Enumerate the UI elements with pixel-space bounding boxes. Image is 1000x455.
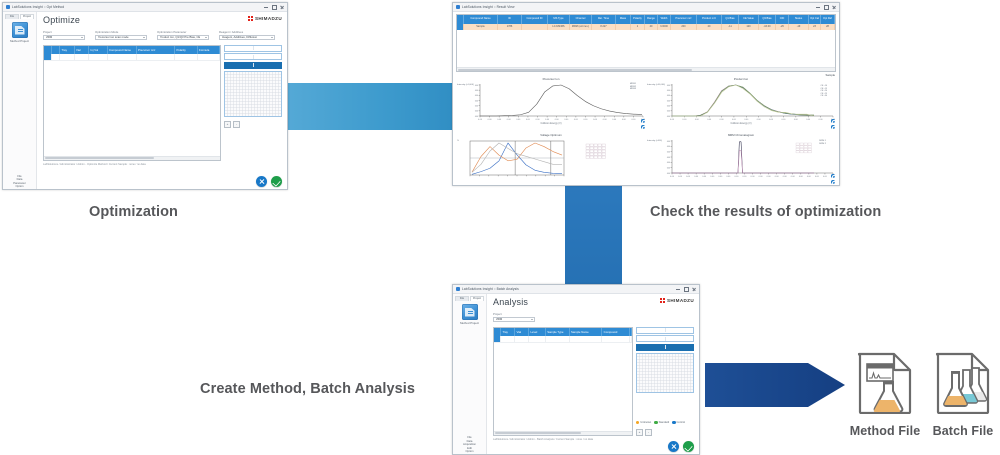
svg-text:0.00: 0.00 bbox=[775, 176, 780, 178]
analysis-side-panel[interactable]: Unknown Standard Control bbox=[636, 327, 694, 436]
field-project[interactable]: Project MRM bbox=[493, 312, 535, 322]
plate-zoom-in-button[interactable]: + bbox=[224, 121, 231, 128]
caption-check-results: Check the results of optimization bbox=[650, 204, 881, 220]
cell-inj-vol bbox=[89, 54, 108, 60]
titlebar-analysis: LabSolutions Insight :: Batch Analysis bbox=[453, 285, 699, 294]
col-inj-vol: Inj Vol bbox=[89, 46, 108, 54]
batch-file-output: Batch File bbox=[926, 352, 1000, 438]
svg-text:000: 000 bbox=[475, 116, 478, 118]
col-level: Level bbox=[529, 328, 546, 336]
svg-text:000: 000 bbox=[475, 95, 478, 97]
svg-text:000: 000 bbox=[475, 105, 478, 107]
legend-unknown: Unknown bbox=[636, 421, 651, 424]
legend-swatch-control bbox=[672, 421, 675, 424]
svg-text:0.00: 0.00 bbox=[670, 176, 675, 178]
col-precursor: Precursor m/z bbox=[137, 46, 176, 54]
svg-text:0.00: 0.00 bbox=[710, 176, 715, 178]
svg-text:0.00: 0.00 bbox=[584, 119, 589, 121]
optimize-fields[interactable]: Project MRM Optimization Mode Precursor … bbox=[43, 30, 282, 40]
cell-compound bbox=[602, 336, 629, 342]
svg-text:0.00: 0.00 bbox=[603, 119, 608, 121]
plate-row-2[interactable] bbox=[636, 335, 694, 342]
minimize-icon[interactable] bbox=[676, 287, 680, 291]
svg-text:0.00: 0.00 bbox=[751, 176, 756, 178]
chart-plot bbox=[456, 138, 646, 182]
svg-text:0.00: 0.00 bbox=[799, 176, 804, 178]
cell-sample-type bbox=[546, 336, 570, 342]
legend-standard: Standard bbox=[654, 421, 669, 424]
plate-row-1[interactable] bbox=[636, 327, 694, 334]
legend-item: MRM3 bbox=[630, 88, 636, 91]
batch-file-label: Batch File bbox=[926, 424, 1000, 438]
page-title: Optimize bbox=[43, 16, 80, 25]
results-header-row: Compound Name ID Compound ID MS Type Cha… bbox=[457, 15, 835, 24]
close-icon[interactable] bbox=[692, 287, 696, 291]
window-optimize[interactable]: LabSolutions Insight :: Opt Method File … bbox=[2, 2, 288, 190]
method-project-icon[interactable] bbox=[462, 304, 478, 320]
svg-text:0.00: 0.00 bbox=[707, 119, 712, 121]
col-index bbox=[52, 46, 61, 54]
legend-label: Control bbox=[677, 421, 685, 424]
method-project-icon[interactable] bbox=[12, 22, 28, 38]
legend-swatch-standard bbox=[654, 421, 657, 424]
svg-text:0.00: 0.00 bbox=[732, 119, 737, 121]
field-optimization-mode[interactable]: Optimization Mode Precursor ion scan mod… bbox=[95, 30, 147, 40]
legend-control: Control bbox=[672, 421, 685, 424]
field-optimization-mode-combo[interactable]: Precursor ion scan mode bbox=[95, 35, 147, 40]
shimadzu-logo: SHIMADZU bbox=[248, 16, 282, 21]
plate-row-selected[interactable] bbox=[224, 62, 282, 69]
titlebar-optimize: LabSolutions Insight :: Opt Method bbox=[3, 3, 287, 12]
optimize-side-panel[interactable]: + - bbox=[224, 45, 282, 161]
svg-text:0.00: 0.00 bbox=[507, 119, 512, 121]
col-polarity: Polarity bbox=[175, 46, 198, 54]
shimadzu-mark-icon bbox=[660, 298, 665, 303]
chart-nav-up-icon[interactable] bbox=[831, 174, 835, 178]
chart-plot: 0.000.000.000.000.000.000.000.000.000.00… bbox=[646, 138, 836, 180]
svg-text:0.00: 0.00 bbox=[478, 119, 483, 121]
svg-text:0.00: 0.00 bbox=[695, 119, 700, 121]
svg-text:0.00: 0.00 bbox=[678, 176, 683, 178]
legend-item: CE -30 bbox=[821, 95, 827, 98]
svg-text:000: 000 bbox=[667, 95, 670, 97]
rail-tabs[interactable]: File Project bbox=[3, 14, 36, 19]
page-title: Analysis bbox=[493, 298, 528, 307]
chart-nav-buttons[interactable] bbox=[641, 119, 645, 129]
method-file-output: Method File bbox=[846, 352, 924, 438]
col-compound: Compound bbox=[602, 328, 629, 336]
maximize-icon[interactable] bbox=[824, 5, 828, 9]
results-empty-area bbox=[457, 30, 835, 68]
cell-polarity bbox=[175, 54, 198, 60]
svg-text:0.00: 0.00 bbox=[794, 119, 799, 121]
window-analysis[interactable]: LabSolutions Insight :: Batch Analysis F… bbox=[452, 284, 700, 455]
svg-text:0.00: 0.00 bbox=[744, 119, 749, 121]
rail-bottom-menu[interactable]: File Data Parameter Option bbox=[3, 175, 36, 188]
field-reagent-value: Reagent, Additives, Diffusion bbox=[222, 35, 258, 39]
chart-nav-down-icon[interactable] bbox=[831, 180, 835, 184]
svg-text:0.00: 0.00 bbox=[682, 119, 687, 121]
status-text: LabSolutions / Administrator / Admin - B… bbox=[493, 438, 694, 441]
cell-compound-name bbox=[108, 54, 137, 60]
field-project[interactable]: Project MRM bbox=[43, 30, 85, 40]
grid-empty-area bbox=[44, 61, 220, 156]
plate-controls[interactable]: + - bbox=[224, 121, 282, 128]
app-icon bbox=[456, 287, 460, 291]
chart-plot: 0.000.000.000.000.000.000.000.000.000.00… bbox=[646, 82, 836, 122]
chart-ylabel: Intensity (x10,000) bbox=[647, 84, 665, 86]
cell-index bbox=[52, 54, 61, 60]
workflow-diagram: LabSolutions Insight :: Opt Method File … bbox=[0, 0, 1000, 455]
window-controls[interactable] bbox=[676, 287, 696, 291]
rail-icon-caption: Method Project bbox=[10, 40, 29, 44]
arrow-results-to-analysis bbox=[565, 182, 622, 287]
mrm-chromatogram-chart: MRM Chromatogram Intensity (x100) 0.000.… bbox=[646, 133, 836, 186]
chevron-down-icon bbox=[143, 37, 145, 38]
field-project-value: MRM bbox=[46, 35, 53, 39]
analysis-actions[interactable] bbox=[668, 441, 694, 452]
chart-title: MRM Chromatogram bbox=[646, 133, 836, 137]
col-ce-value: CE Value bbox=[739, 15, 759, 24]
col-sample-type: Sample Type bbox=[546, 328, 570, 336]
maximize-icon[interactable] bbox=[684, 287, 688, 291]
col-channel: Channel bbox=[570, 15, 592, 24]
svg-text:000: 000 bbox=[667, 151, 670, 153]
minimize-icon[interactable] bbox=[264, 5, 268, 9]
chart-nav-up-icon[interactable] bbox=[641, 119, 645, 123]
field-reagent-additives[interactable]: Reagent / Additives Reagent, Additives, … bbox=[219, 30, 275, 40]
optimize-actions[interactable] bbox=[256, 176, 282, 187]
svg-text:0.00: 0.00 bbox=[622, 119, 627, 121]
field-project-combo[interactable]: MRM bbox=[43, 35, 85, 40]
field-reagent-label: Reagent / Additives bbox=[219, 30, 275, 34]
rail-tab-project[interactable]: Project bbox=[470, 296, 484, 301]
sample-type-legend: Unknown Standard Control bbox=[636, 421, 694, 425]
svg-text:0.00: 0.00 bbox=[545, 119, 550, 121]
svg-text:0.00: 0.00 bbox=[807, 176, 812, 178]
svg-text:0.00: 0.00 bbox=[783, 176, 788, 178]
field-project-label: Project bbox=[493, 312, 535, 316]
col-select bbox=[44, 46, 52, 54]
field-project-label: Project bbox=[43, 30, 85, 34]
svg-text:0.00: 0.00 bbox=[718, 176, 723, 178]
svg-text:0.00: 0.00 bbox=[574, 119, 579, 121]
legend-label: Unknown bbox=[640, 421, 651, 424]
field-optimization-mode-value: Precursor ion scan mode bbox=[98, 35, 129, 39]
chart-nav-buttons[interactable] bbox=[831, 174, 835, 184]
chevron-down-icon bbox=[81, 37, 83, 38]
svg-text:0.00: 0.00 bbox=[759, 176, 764, 178]
batch-file-icon bbox=[935, 352, 991, 414]
col-compound-id: Compound ID bbox=[522, 15, 548, 24]
col-status: Status bbox=[789, 15, 809, 24]
col-mass: Mass bbox=[616, 15, 631, 24]
svg-text:0.00: 0.00 bbox=[815, 176, 820, 178]
grid-horizontal-scrollbar[interactable] bbox=[44, 156, 220, 160]
left-rail-optimize[interactable]: File Project Method Project File Data Pa… bbox=[3, 12, 37, 190]
legend-item: MRM 2 bbox=[819, 143, 826, 146]
minimize-icon[interactable] bbox=[816, 5, 820, 9]
chart-ylabel: % bbox=[457, 140, 459, 142]
window-controls[interactable] bbox=[816, 5, 836, 9]
svg-text:0.00: 0.00 bbox=[526, 119, 531, 121]
col-tray: Tray bbox=[501, 328, 515, 336]
field-optimization-parameter-label: Optimization Parameter bbox=[157, 30, 209, 34]
grid-horizontal-scrollbar[interactable] bbox=[494, 431, 632, 435]
col-formula: Formula bbox=[198, 46, 221, 54]
svg-text:0.00: 0.00 bbox=[720, 119, 725, 121]
rail-menu-option[interactable]: Option bbox=[466, 450, 474, 453]
col-polarity: Polarity bbox=[631, 15, 645, 24]
field-optimization-parameter[interactable]: Optimization Parameter Product Ion, Q1/Q… bbox=[157, 30, 209, 40]
svg-text:000: 000 bbox=[475, 85, 478, 87]
cell-data-name bbox=[630, 336, 633, 342]
close-icon[interactable] bbox=[280, 5, 284, 9]
chart-title: Precursor Ion bbox=[456, 77, 646, 81]
ok-button[interactable] bbox=[271, 176, 282, 187]
chart-nav-down-icon[interactable] bbox=[831, 125, 835, 129]
pane-analysis: Analysis SHIMADZU Project MRM bbox=[487, 294, 699, 455]
col-ret-time: Ret. Time bbox=[592, 15, 616, 24]
svg-text:000: 000 bbox=[667, 167, 670, 169]
chart-legend: MRM 1 MRM 2 bbox=[819, 140, 826, 145]
rail-bottom-menu[interactable]: File Data Acquisition Edit Option bbox=[453, 436, 486, 453]
svg-text:000: 000 bbox=[475, 111, 478, 113]
chart-xlabel: Collision Energy (V) bbox=[646, 122, 836, 125]
col-data-name: Data Name bbox=[630, 328, 633, 336]
precursor-scan-chart: Precursor Ion Intensity (x1,000) 0.000.0… bbox=[456, 77, 646, 133]
titlebar-text: LabSolutions Insight :: Batch Analysis bbox=[462, 287, 519, 291]
col-select bbox=[494, 328, 501, 336]
svg-text:000: 000 bbox=[667, 173, 670, 175]
cell-sample-name bbox=[570, 336, 603, 342]
legend-swatch-unknown bbox=[636, 421, 639, 424]
row-selector[interactable] bbox=[44, 54, 52, 60]
chevron-down-icon bbox=[271, 37, 273, 38]
col-sel bbox=[457, 15, 464, 24]
svg-text:0.00: 0.00 bbox=[593, 119, 598, 121]
analysis-fields[interactable]: Project MRM bbox=[493, 312, 694, 322]
chart-plot: 0.000.000.000.000.000.000.000.000.000.00… bbox=[456, 82, 646, 122]
energy-optimum-chart: Voltage Optimum % bbox=[456, 133, 646, 186]
chart-nav-up-icon[interactable] bbox=[831, 119, 835, 123]
chart-ylabel: Intensity (x1,000) bbox=[457, 84, 474, 86]
col-opt-cal: Opt Cal bbox=[809, 15, 821, 24]
chart-title: Voltage Optimum bbox=[456, 133, 646, 137]
svg-text:0.00: 0.00 bbox=[702, 176, 707, 178]
col-sample-name: Sample Name bbox=[570, 328, 603, 336]
results-horizontal-scrollbar[interactable] bbox=[457, 67, 835, 71]
svg-text:0.00: 0.00 bbox=[782, 119, 787, 121]
cell-tray bbox=[501, 336, 515, 342]
shimadzu-logo: SHIMADZU bbox=[660, 298, 694, 303]
status-text: LabSolutions / Administrator / Admin - O… bbox=[43, 163, 282, 166]
cell-precursor bbox=[137, 54, 176, 60]
app-icon bbox=[456, 5, 460, 9]
cell-formula bbox=[198, 54, 221, 60]
rail-icon-caption: Method Project bbox=[460, 322, 479, 326]
svg-text:0.00: 0.00 bbox=[555, 119, 560, 121]
cancel-button[interactable] bbox=[668, 441, 679, 452]
plate-row-selected[interactable] bbox=[636, 344, 694, 351]
chart-nav-down-icon[interactable] bbox=[641, 125, 645, 129]
cell-vial bbox=[515, 336, 529, 342]
app-icon bbox=[6, 5, 10, 9]
shimadzu-wordmark: SHIMADZU bbox=[667, 298, 694, 303]
plate-row-2[interactable] bbox=[224, 53, 282, 60]
col-cid: CID bbox=[776, 15, 789, 24]
svg-text:000: 000 bbox=[475, 90, 478, 92]
svg-text:0.00: 0.00 bbox=[564, 119, 569, 121]
svg-text:0.00: 0.00 bbox=[612, 119, 617, 121]
chart-legend: MRM1 MRM2 MRM3 bbox=[630, 83, 636, 91]
titlebar-text: LabSolutions Insight :: Opt Method bbox=[12, 5, 64, 9]
arrow-optimize-to-results bbox=[265, 83, 465, 130]
shimadzu-wordmark: SHIMADZU bbox=[255, 16, 282, 21]
shimadzu-mark-icon bbox=[248, 16, 253, 21]
caption-create-method: Create Method, Batch Analysis bbox=[200, 381, 415, 397]
col-tray: Tray bbox=[60, 46, 75, 54]
svg-text:0.00: 0.00 bbox=[757, 119, 762, 121]
svg-text:000: 000 bbox=[667, 100, 670, 102]
col-opt-ref: Opt Ref bbox=[821, 15, 835, 24]
svg-text:000: 000 bbox=[667, 157, 670, 159]
svg-text:0.00: 0.00 bbox=[686, 176, 691, 178]
col-product-mz: Product m/z bbox=[697, 15, 722, 24]
left-rail-analysis[interactable]: File Project Method Project File Data Ac… bbox=[453, 294, 487, 455]
svg-text:000: 000 bbox=[667, 90, 670, 92]
chart-ylabel: Intensity (x100) bbox=[647, 140, 662, 142]
col-compound-name: Compound Name bbox=[464, 15, 498, 24]
row-selector[interactable] bbox=[494, 336, 501, 342]
svg-text:0.00: 0.00 bbox=[742, 176, 747, 178]
col-q3-bias: Q3 Bias bbox=[759, 15, 776, 24]
svg-text:0.00: 0.00 bbox=[516, 119, 521, 121]
rail-menu-option[interactable]: Option bbox=[16, 185, 24, 188]
svg-text:0.00: 0.00 bbox=[726, 176, 731, 178]
rail-tabs[interactable]: File Project bbox=[453, 296, 486, 301]
plate-controls[interactable]: + - bbox=[636, 429, 694, 436]
svg-text:000: 000 bbox=[667, 111, 670, 113]
well-plate-grid[interactable] bbox=[636, 353, 694, 393]
analysis-sample-grid[interactable]: Tray Vial Level Sample Type Sample Name … bbox=[493, 327, 633, 436]
svg-text:0.00: 0.00 bbox=[631, 119, 636, 121]
col-ms-type: MS Type bbox=[548, 15, 570, 24]
field-optimization-mode-label: Optimization Mode bbox=[95, 30, 147, 34]
ok-button[interactable] bbox=[683, 441, 694, 452]
svg-text:000: 000 bbox=[667, 85, 670, 87]
col-vial: Vial bbox=[515, 328, 529, 336]
col-vial: Vial bbox=[75, 46, 90, 54]
plate-zoom-in-button[interactable]: + bbox=[636, 429, 643, 436]
rail-tab-file[interactable]: File bbox=[455, 296, 469, 301]
svg-text:0.00: 0.00 bbox=[806, 119, 811, 121]
svg-text:0.00: 0.00 bbox=[536, 119, 541, 121]
cell-vial bbox=[75, 54, 90, 60]
chart-title: Product Ion bbox=[646, 77, 836, 81]
col-precursor-mz: Precursor m/z bbox=[671, 15, 697, 24]
grid-empty-area bbox=[494, 343, 632, 431]
legend-label: Standard bbox=[659, 421, 670, 424]
table-row[interactable] bbox=[494, 336, 632, 343]
col-q1-bias: Q1 Bias bbox=[722, 15, 739, 24]
plate-row-1[interactable] bbox=[224, 45, 282, 52]
svg-text:0.00: 0.00 bbox=[488, 119, 493, 121]
close-icon[interactable] bbox=[832, 5, 836, 9]
grid-header-row: Tray Vial Inj Vol Compound Name Precurso… bbox=[44, 46, 220, 54]
product-ion-chart: Product Ion Intensity (x10,000) 0.000.00… bbox=[646, 77, 836, 133]
col-compound-name: Compound Name bbox=[108, 46, 137, 54]
cell-tray bbox=[60, 54, 75, 60]
table-row[interactable] bbox=[44, 54, 220, 61]
svg-text:0.00: 0.00 bbox=[791, 176, 796, 178]
svg-text:0.00: 0.00 bbox=[734, 176, 739, 178]
caption-optimization: Optimization bbox=[89, 204, 178, 220]
method-file-icon bbox=[857, 352, 913, 414]
svg-text:0.00: 0.00 bbox=[670, 119, 675, 121]
rail-tab-project[interactable]: Project bbox=[20, 14, 34, 19]
field-project-value: MRM bbox=[496, 317, 503, 321]
svg-text:000: 000 bbox=[667, 146, 670, 148]
col-width: Width bbox=[658, 15, 671, 24]
chart-nav-buttons[interactable] bbox=[831, 119, 835, 129]
pane-optimize: Optimize SHIMADZU Project MRM bbox=[37, 12, 287, 190]
window-controls[interactable] bbox=[264, 5, 284, 9]
svg-text:0.00: 0.00 bbox=[819, 119, 824, 121]
titlebar-text: LabSolutions Insight :: Result View bbox=[462, 5, 515, 9]
window-results[interactable]: LabSolutions Insight :: Result View Comp… bbox=[452, 2, 840, 186]
titlebar-results: LabSolutions Insight :: Result View bbox=[453, 3, 839, 12]
cell-level bbox=[529, 336, 546, 342]
grid-header-row: Tray Vial Level Sample Type Sample Name … bbox=[494, 328, 632, 336]
svg-text:0.00: 0.00 bbox=[497, 119, 502, 121]
field-optimization-parameter-value: Product Ion, Q1/Q3 Pre Bias, CE bbox=[160, 35, 201, 39]
chart-xlabel: Collision Energy (V) bbox=[456, 122, 646, 125]
arrow-analysis-to-files bbox=[705, 358, 845, 412]
svg-text:000: 000 bbox=[667, 162, 670, 164]
results-table[interactable]: Compound Name ID Compound ID MS Type Cha… bbox=[456, 14, 836, 72]
field-project-combo[interactable]: MRM bbox=[493, 317, 535, 322]
col-id: ID bbox=[498, 15, 522, 24]
field-optimization-parameter-combo[interactable]: Product Ion, Q1/Q3 Pre Bias, CE bbox=[157, 35, 209, 40]
svg-text:000: 000 bbox=[667, 105, 670, 107]
method-file-label: Method File bbox=[846, 424, 924, 438]
svg-text:000: 000 bbox=[667, 141, 670, 143]
maximize-icon[interactable] bbox=[272, 5, 276, 9]
cancel-button[interactable] bbox=[256, 176, 267, 187]
rail-tab-file[interactable]: File bbox=[5, 14, 19, 19]
plate-zoom-out-button[interactable]: - bbox=[645, 429, 652, 436]
plate-zoom-out-button[interactable]: - bbox=[233, 121, 240, 128]
chart-legend: CE -10 CE -15 CE -20 CE -25 CE -30 bbox=[821, 85, 827, 98]
well-plate-grid[interactable] bbox=[224, 71, 282, 117]
chevron-down-icon bbox=[531, 319, 533, 320]
svg-text:0.00: 0.00 bbox=[769, 119, 774, 121]
svg-text:0.00: 0.00 bbox=[823, 176, 828, 178]
svg-text:0.00: 0.00 bbox=[767, 176, 772, 178]
optimize-sample-grid[interactable]: Tray Vial Inj Vol Compound Name Precurso… bbox=[43, 45, 221, 161]
field-reagent-combo[interactable]: Reagent, Additives, Diffusion bbox=[219, 35, 275, 40]
svg-text:0.00: 0.00 bbox=[694, 176, 699, 178]
svg-text:000: 000 bbox=[667, 116, 670, 118]
results-charts: Precursor Ion Intensity (x1,000) 0.000.0… bbox=[453, 77, 839, 186]
col-range: Range bbox=[645, 15, 658, 24]
svg-text:000: 000 bbox=[475, 100, 478, 102]
chevron-down-icon bbox=[205, 37, 207, 38]
